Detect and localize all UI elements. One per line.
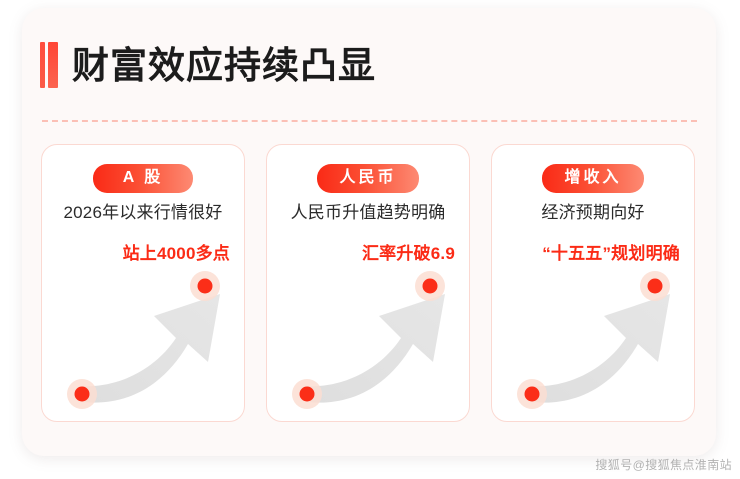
card-income[interactable]: 增收入 经济预期向好 “十五五”规划明确 xyxy=(491,144,695,422)
card-a-shares[interactable]: A 股 2026年以来行情很好 站上4000多点 xyxy=(41,144,245,422)
badge-row: A 股 xyxy=(42,164,244,193)
cards-row: A 股 2026年以来行情很好 站上4000多点 xyxy=(41,144,697,422)
growth-arrow-icon xyxy=(267,256,470,421)
watermark: 搜狐号@搜狐焦点淮南站 xyxy=(595,456,732,473)
card-badge: A 股 xyxy=(93,164,193,193)
card-description: 2026年以来行情很好 xyxy=(42,201,244,225)
card-description: 人民币升值趋势明确 xyxy=(267,201,469,225)
header: 财富效应持续凸显 xyxy=(40,36,376,94)
growth-arrow-icon xyxy=(42,256,245,421)
badge-row: 增收入 xyxy=(492,164,694,193)
card-badge: 人民币 xyxy=(317,164,418,193)
card-badge: 增收入 xyxy=(542,164,643,193)
badge-row: 人民币 xyxy=(267,164,469,193)
growth-arrow-icon xyxy=(492,256,695,421)
card-rmb[interactable]: 人民币 人民币升值趋势明确 汇率升破6.9 xyxy=(266,144,470,422)
page-title: 财富效应持续凸显 xyxy=(72,47,376,84)
content-panel: 财富效应持续凸显 A 股 2026年以来行情很好 站上4000多点 xyxy=(22,8,716,456)
section-divider xyxy=(42,120,697,122)
card-description: 经济预期向好 xyxy=(492,201,694,225)
screenshot-root: 财富效应持续凸显 A 股 2026年以来行情很好 站上4000多点 xyxy=(0,0,740,479)
title-accent-bar-icon xyxy=(40,42,58,88)
